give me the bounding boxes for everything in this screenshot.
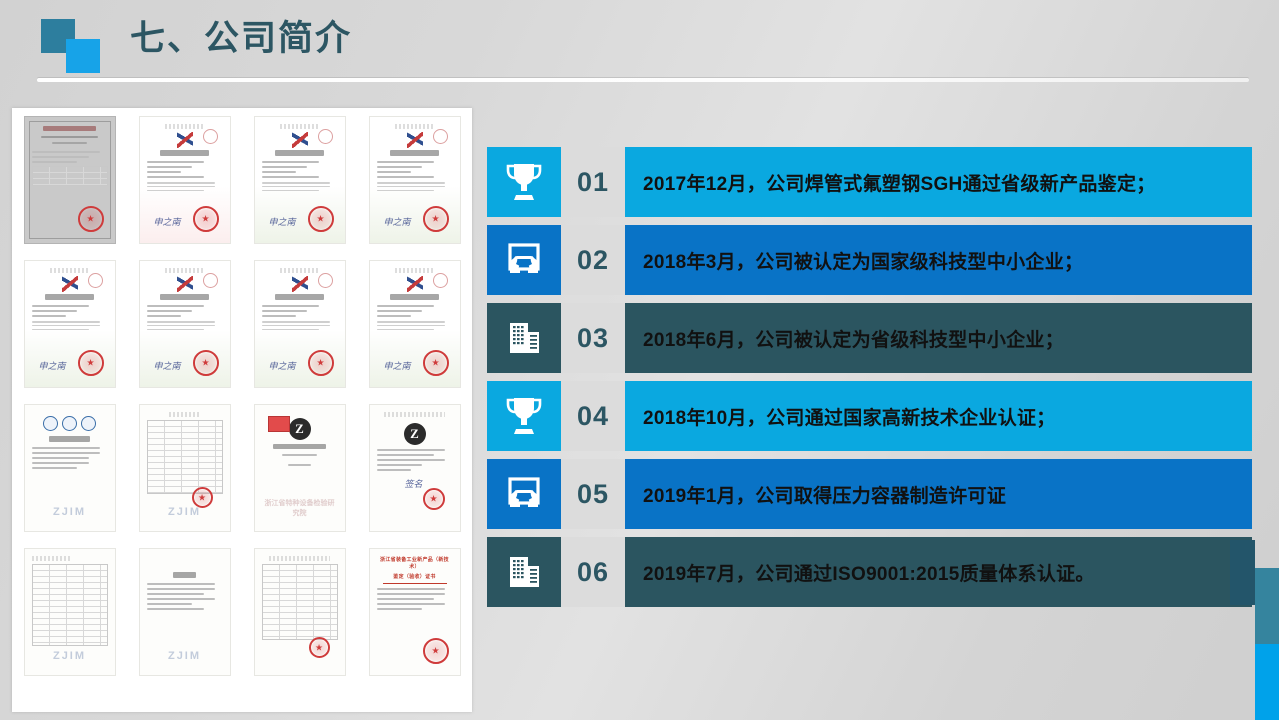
timeline-text: 2018年6月，公司被认定为省级科技型中小企业；	[625, 303, 1252, 373]
decorative-square-light-icon	[66, 39, 100, 73]
certificate-thumb[interactable]: ZJIM	[12, 540, 127, 684]
certificate-thumb[interactable]: 申之南	[12, 252, 127, 396]
timeline-text: 2019年1月，公司取得压力容器制造许可证	[625, 459, 1252, 529]
timeline-number: 01	[561, 147, 625, 217]
certificate-thumb[interactable]: 申之南	[242, 252, 357, 396]
certificate-thumb[interactable]: 申之南	[242, 108, 357, 252]
timeline-number: 04	[561, 381, 625, 451]
page-title: 七、公司简介	[130, 16, 352, 62]
slide: 七、公司简介	[0, 0, 1279, 720]
certificate-thumb[interactable]: ZJIM	[127, 540, 242, 684]
achievement-timeline: 01 2017年12月，公司焊管式氟塑钢SGH通过省级新产品鉴定； 02 201…	[487, 147, 1252, 615]
timeline-text: 2019年7月，公司通过ISO9001:2015质量体系认证。	[625, 537, 1252, 607]
timeline-text: 2018年10月，公司通过国家高新技术企业认证；	[625, 381, 1252, 451]
timeline-text: 2018年3月，公司被认定为国家级科技型中小企业；	[625, 225, 1252, 295]
certificate-thumb[interactable]: Z 浙江省特种设备检验研究院	[242, 396, 357, 540]
certificate-hands-icon	[487, 459, 561, 529]
timeline-row[interactable]: 04 2018年10月，公司通过国家高新技术企业认证；	[487, 381, 1252, 451]
certificate-thumb[interactable]: Z 签名	[357, 396, 472, 540]
certificate-thumb[interactable]: 申之南	[357, 252, 472, 396]
certificate-thumb[interactable]: 申之南	[127, 108, 242, 252]
timeline-row[interactable]: 03 2018年6月，公司被认定为省级科技型中小企业；	[487, 303, 1252, 373]
certificate-thumb[interactable]: 申之南	[127, 252, 242, 396]
certificate-thumb[interactable]	[242, 540, 357, 684]
certificate-gallery: 申之南	[12, 108, 472, 712]
certificate-thumb[interactable]	[12, 108, 127, 252]
timeline-row[interactable]: 02 2018年3月，公司被认定为国家级科技型中小企业；	[487, 225, 1252, 295]
timeline-row[interactable]: 01 2017年12月，公司焊管式氟塑钢SGH通过省级新产品鉴定；	[487, 147, 1252, 217]
timeline-text: 2017年12月，公司焊管式氟塑钢SGH通过省级新产品鉴定；	[625, 147, 1252, 217]
timeline-number: 03	[561, 303, 625, 373]
accent-block-teal	[1230, 540, 1255, 605]
certificate-hands-icon	[487, 225, 561, 295]
header-divider	[37, 78, 1249, 82]
building-icon	[487, 303, 561, 373]
timeline-number: 06	[561, 537, 625, 607]
certificate-thumb[interactable]: ZJIM	[12, 396, 127, 540]
timeline-row[interactable]: 05 2019年1月，公司取得压力容器制造许可证	[487, 459, 1252, 529]
accent-bar-top	[1255, 568, 1279, 644]
building-icon	[487, 537, 561, 607]
certificate-thumb[interactable]: 浙江省装备工业新产品（新技术） 鉴定（验收）证书	[357, 540, 472, 684]
accent-bar-bottom	[1255, 644, 1279, 720]
timeline-number: 02	[561, 225, 625, 295]
timeline-row[interactable]: 06 2019年7月，公司通过ISO9001:2015质量体系认证。	[487, 537, 1252, 607]
slide-header: 七、公司简介	[0, 0, 1279, 92]
trophy-icon	[487, 147, 561, 217]
certificate-thumb[interactable]: 申之南	[357, 108, 472, 252]
timeline-number: 05	[561, 459, 625, 529]
certificate-grid: 申之南	[12, 108, 472, 684]
certificate-thumb[interactable]: ZJIM	[127, 396, 242, 540]
trophy-icon	[487, 381, 561, 451]
